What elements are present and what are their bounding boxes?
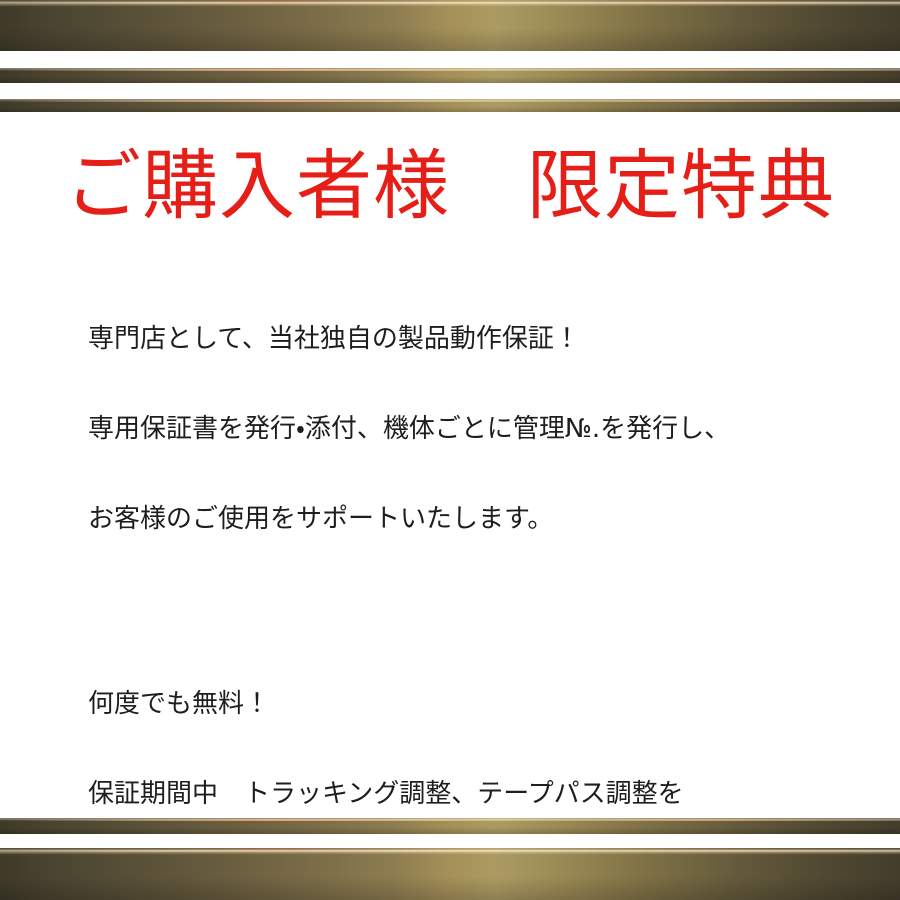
top-gold-band-thick [0, 0, 900, 51]
promo-poster: ご購入者様 限定特典 専門店として、当社独自の製品動作保証！ 専用保証書を発行・… [0, 0, 900, 900]
bottom-gold-band-thick [0, 848, 900, 900]
paragraph-line: 保証期間中 トラッキング調整、テープパス調整を [88, 772, 848, 817]
paragraph-line: 何度でも無料！ [88, 682, 848, 727]
page-title: ご購入者様 限定特典 [0, 143, 900, 229]
top-gold-band-thick-highlight [0, 2, 900, 4]
top-gold-band-medium-highlight [0, 69, 900, 71]
benefits-body: 専門店として、当社独自の製品動作保証！ 専用保証書を発行・添付、機体ごとに管理№… [88, 272, 848, 900]
top-gold-band-thin-highlight [0, 100, 900, 102]
paragraph-line: 専用保証書を発行・添付、機体ごとに管理№.を発行し、 [88, 407, 848, 452]
paragraph-line: お客様のご使用をサポートいたします。 [88, 497, 848, 542]
paragraph-line: 専門店として、当社独自の製品動作保証！ [88, 317, 848, 362]
paragraph-warranty: 専門店として、当社独自の製品動作保証！ 専用保証書を発行・添付、機体ごとに管理№… [88, 272, 848, 587]
bottom-gold-band-thick-highlight [0, 850, 900, 852]
bottom-gold-band-thin-highlight [0, 819, 900, 821]
